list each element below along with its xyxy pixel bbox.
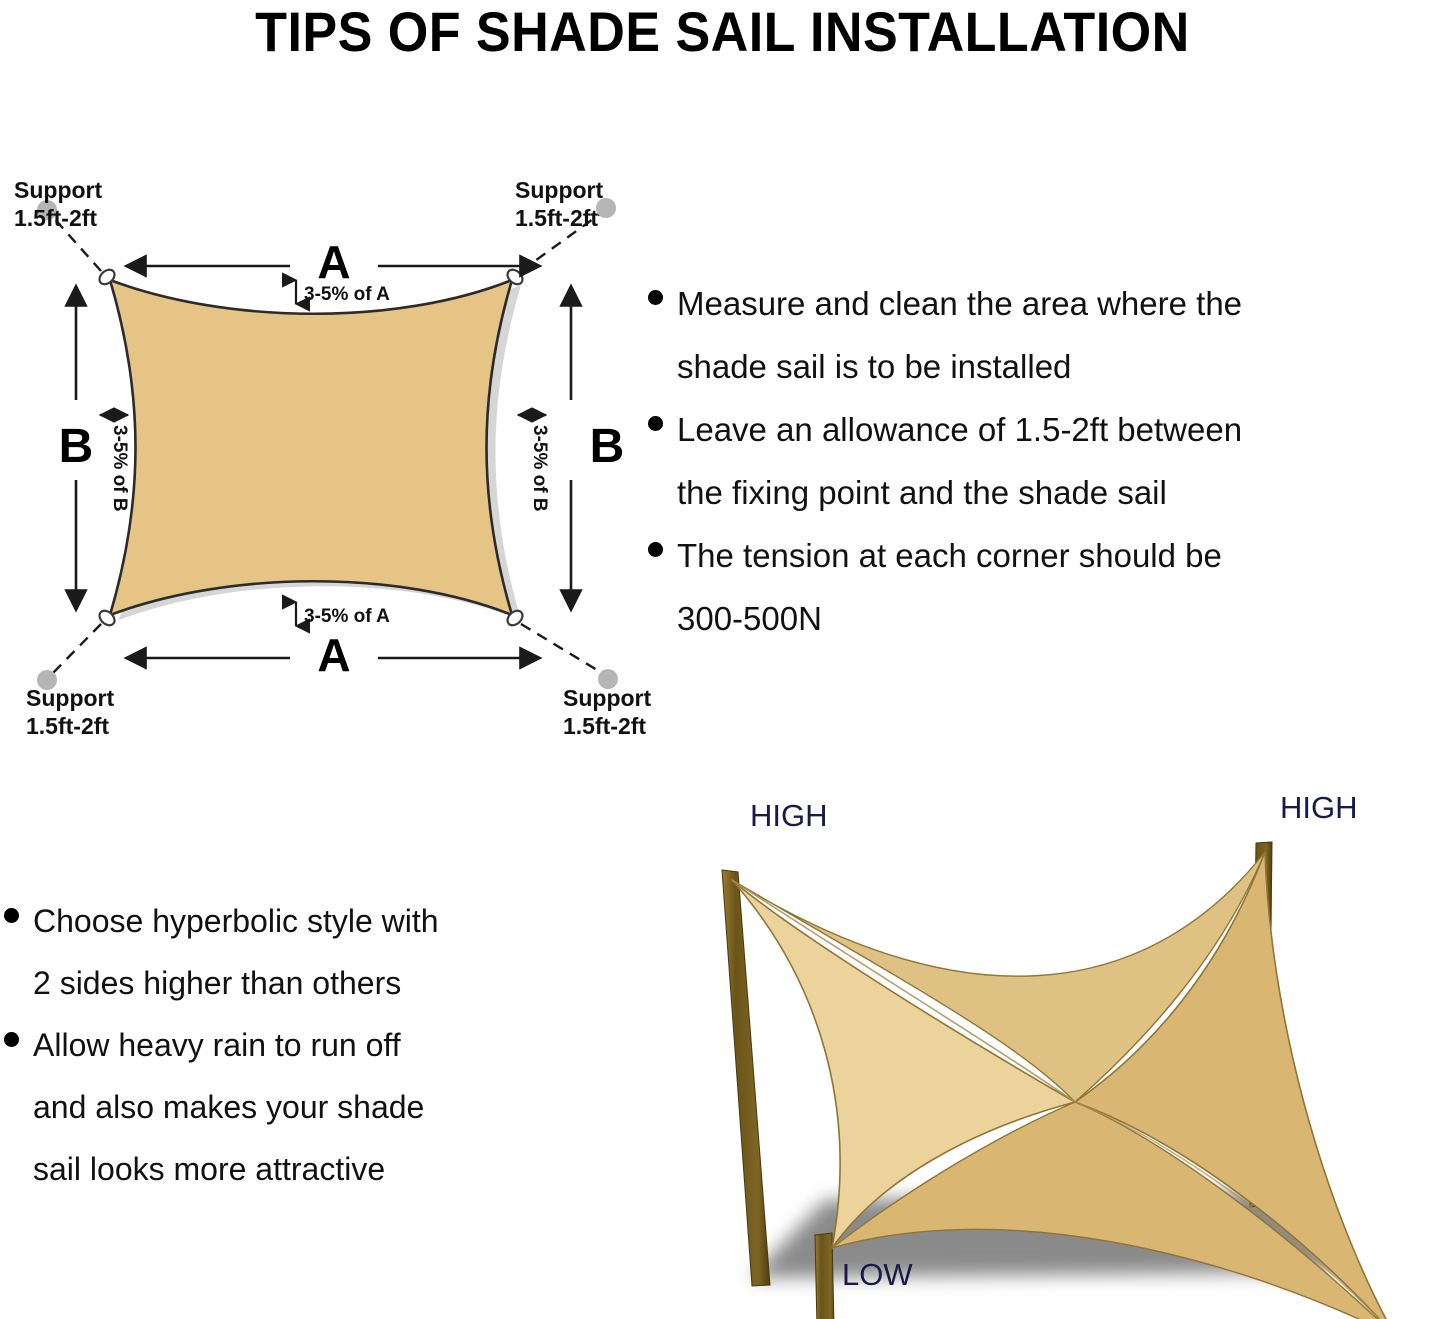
tip-text: Leave an allowance of 1.5-2ft between: [677, 398, 1242, 461]
dimension-b-right-label: B: [590, 420, 625, 473]
title-bar: TIPS OF SHADE SAIL INSTALLATION: [0, 0, 1445, 64]
shade-sail-shape: [110, 280, 512, 615]
dimension-a-bottom: A: [126, 629, 540, 681]
support-label-top-right: Support 1.5ft-2ft: [515, 177, 603, 231]
tip-text: and also makes your shade: [33, 1076, 424, 1138]
support-label-top-left: Support 1.5ft-2ft: [14, 177, 102, 231]
dimension-b-left: B: [59, 286, 94, 610]
tip-text: Allow heavy rain to run off: [33, 1014, 401, 1076]
support-label-line2: 1.5ft-2ft: [563, 713, 646, 739]
bullet-dot-icon: [648, 290, 663, 305]
list-item: The tension at each corner should be: [648, 524, 1445, 587]
dimension-a-bottom-label: A: [317, 629, 350, 681]
tips-list-top: Measure and clean the area where the sha…: [648, 272, 1445, 650]
list-item-continuation: 2 sides higher than others: [4, 952, 624, 1014]
label-low-left: LOW: [842, 1257, 913, 1292]
sag-right: 3-5% of B: [518, 415, 550, 512]
tip-text: 2 sides higher than others: [33, 952, 401, 1014]
dimension-b-left-label: B: [59, 420, 94, 473]
bullet-spacer: [4, 1094, 19, 1109]
sag-right-label: 3-5% of B: [529, 425, 550, 512]
tip-text: the fixing point and the shade sail: [677, 461, 1167, 524]
label-high-right: HIGH: [1280, 790, 1358, 825]
sag-top: 3-5% of A: [296, 280, 390, 305]
dimension-a-top-label: A: [317, 236, 350, 288]
dimension-a-top: A: [126, 236, 540, 288]
sag-bottom-label: 3-5% of A: [304, 606, 390, 627]
tips-list-bottom: Choose hyperbolic style with 2 sides hig…: [4, 890, 624, 1200]
bullet-dot-icon: [648, 542, 663, 557]
list-item: Measure and clean the area where the: [648, 272, 1445, 335]
list-item: Allow heavy rain to run off: [4, 1014, 624, 1076]
hyperbolic-sail-diagram: HIGH HIGH LOW LOW: [620, 780, 1445, 1319]
bullet-dot-icon: [648, 416, 663, 431]
support-label-line1: Support: [515, 177, 603, 203]
bullet-spacer: [648, 353, 663, 368]
bullet-dot-icon: [4, 1032, 19, 1047]
sag-left-label: 3-5% of B: [109, 425, 130, 512]
bullet-dot-icon: [4, 908, 19, 923]
list-item-continuation: shade sail is to be installed: [648, 335, 1445, 398]
support-label-bottom-left: Support 1.5ft-2ft: [26, 685, 114, 739]
list-item: Leave an allowance of 1.5-2ft between: [648, 398, 1445, 461]
pole-high-left: [722, 870, 770, 1286]
tip-text: Measure and clean the area where the: [677, 272, 1242, 335]
sag-left: 3-5% of B: [100, 415, 130, 512]
list-item-continuation: the fixing point and the shade sail: [648, 461, 1445, 524]
bullet-spacer: [648, 479, 663, 494]
tip-text: shade sail is to be installed: [677, 335, 1071, 398]
list-item-continuation: 300-500N: [648, 587, 1445, 650]
tip-text: 300-500N: [677, 587, 822, 650]
sag-bottom: 3-5% of A: [296, 602, 390, 627]
support-label-line2: 1.5ft-2ft: [14, 205, 97, 231]
support-label-bottom-right: Support 1.5ft-2ft: [563, 685, 651, 739]
tip-text: The tension at each corner should be: [677, 524, 1222, 587]
sag-top-label: 3-5% of A: [304, 284, 390, 305]
dimension-b-right: B: [571, 286, 624, 610]
bullet-spacer: [4, 1156, 19, 1171]
rect-sail-diagram: A 3-5% of A A 3-5% of A B 3-5% of B: [0, 150, 660, 740]
list-item: Choose hyperbolic style with: [4, 890, 624, 952]
bullet-spacer: [648, 605, 663, 620]
bullet-spacer: [4, 970, 19, 985]
support-label-line1: Support: [563, 685, 651, 711]
list-item-continuation: and also makes your shade: [4, 1076, 624, 1138]
support-label-line1: Support: [14, 177, 102, 203]
support-label-line1: Support: [26, 685, 114, 711]
tip-text: sail looks more attractive: [33, 1138, 385, 1200]
tip-text: Choose hyperbolic style with: [33, 890, 439, 952]
label-high-left: HIGH: [750, 798, 828, 833]
support-label-line2: 1.5ft-2ft: [515, 205, 598, 231]
support-label-line2: 1.5ft-2ft: [26, 713, 109, 739]
page-title: TIPS OF SHADE SAIL INSTALLATION: [255, 4, 1190, 60]
list-item-continuation: sail looks more attractive: [4, 1138, 624, 1200]
